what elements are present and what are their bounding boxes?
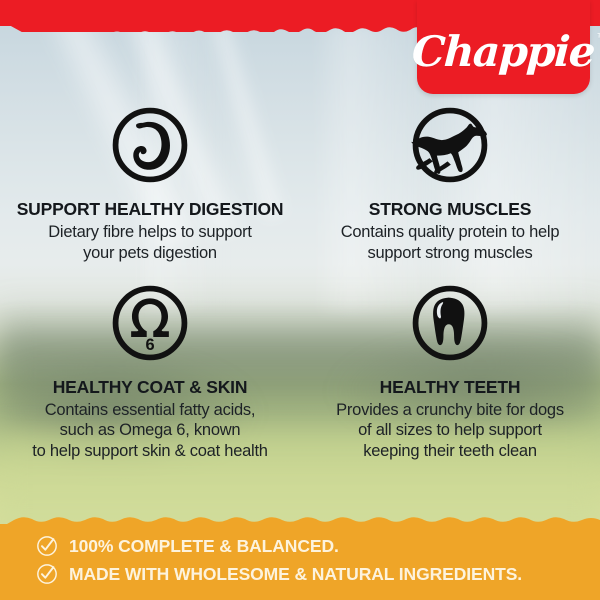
tooth-icon [409,282,491,364]
stomach-icon [109,104,191,186]
footer-claim-item: MADE WITH WHOLESOME & NATURAL INGREDIENT… [36,560,596,588]
footer-claim-text: 100% COMPLETE & BALANCED. [69,536,339,557]
feature-item-coat-skin: 6 HEALTHY COAT & SKIN Contains essential… [0,282,300,462]
trademark-symbol: ™ [596,33,600,44]
footer-torn-edge-icon [0,514,600,528]
feature-description: Contains quality protein to help support… [341,222,560,263]
feature-item-digestion: SUPPORT HEALTHY DIGESTION Dietary fibre … [0,104,300,264]
feature-title: STRONG MUSCLES [369,200,532,219]
footer-claims-list: 100% COMPLETE & BALANCED. MADE WITH WHOL… [36,532,596,588]
omega-number: 6 [145,336,154,354]
feature-description: Contains essential fatty acids, such as … [32,400,268,462]
feature-title: HEALTHY COAT & SKIN [53,378,248,397]
check-circle-icon [36,563,58,585]
omega-6-icon: 6 [109,282,191,364]
check-circle-icon [36,535,58,557]
running-dog-icon [409,104,491,186]
brand-name: Chappie [411,27,596,76]
brand-wordmark: Chappie™ [411,31,595,73]
feature-description: Dietary fibre helps to support your pets… [48,222,251,263]
feature-title: HEALTHY TEETH [380,378,521,397]
feature-item-teeth: HEALTHY TEETH Provides a crunchy bite fo… [300,282,600,462]
feature-description: Provides a crunchy bite for dogs of all … [336,400,564,462]
product-benefits-banner: Chappie™ SUPPORT HEALTHY DIGESTION Dieta… [0,0,600,600]
footer-claim-text: MADE WITH WHOLESOME & NATURAL INGREDIENT… [69,564,522,585]
feature-item-muscles: STRONG MUSCLES Contains quality protein … [300,104,600,264]
feature-title: SUPPORT HEALTHY DIGESTION [17,200,284,219]
footer-claim-item: 100% COMPLETE & BALANCED. [36,532,596,560]
feature-grid: SUPPORT HEALTHY DIGESTION Dietary fibre … [0,104,600,462]
brand-tab: Chappie™ [417,0,590,94]
